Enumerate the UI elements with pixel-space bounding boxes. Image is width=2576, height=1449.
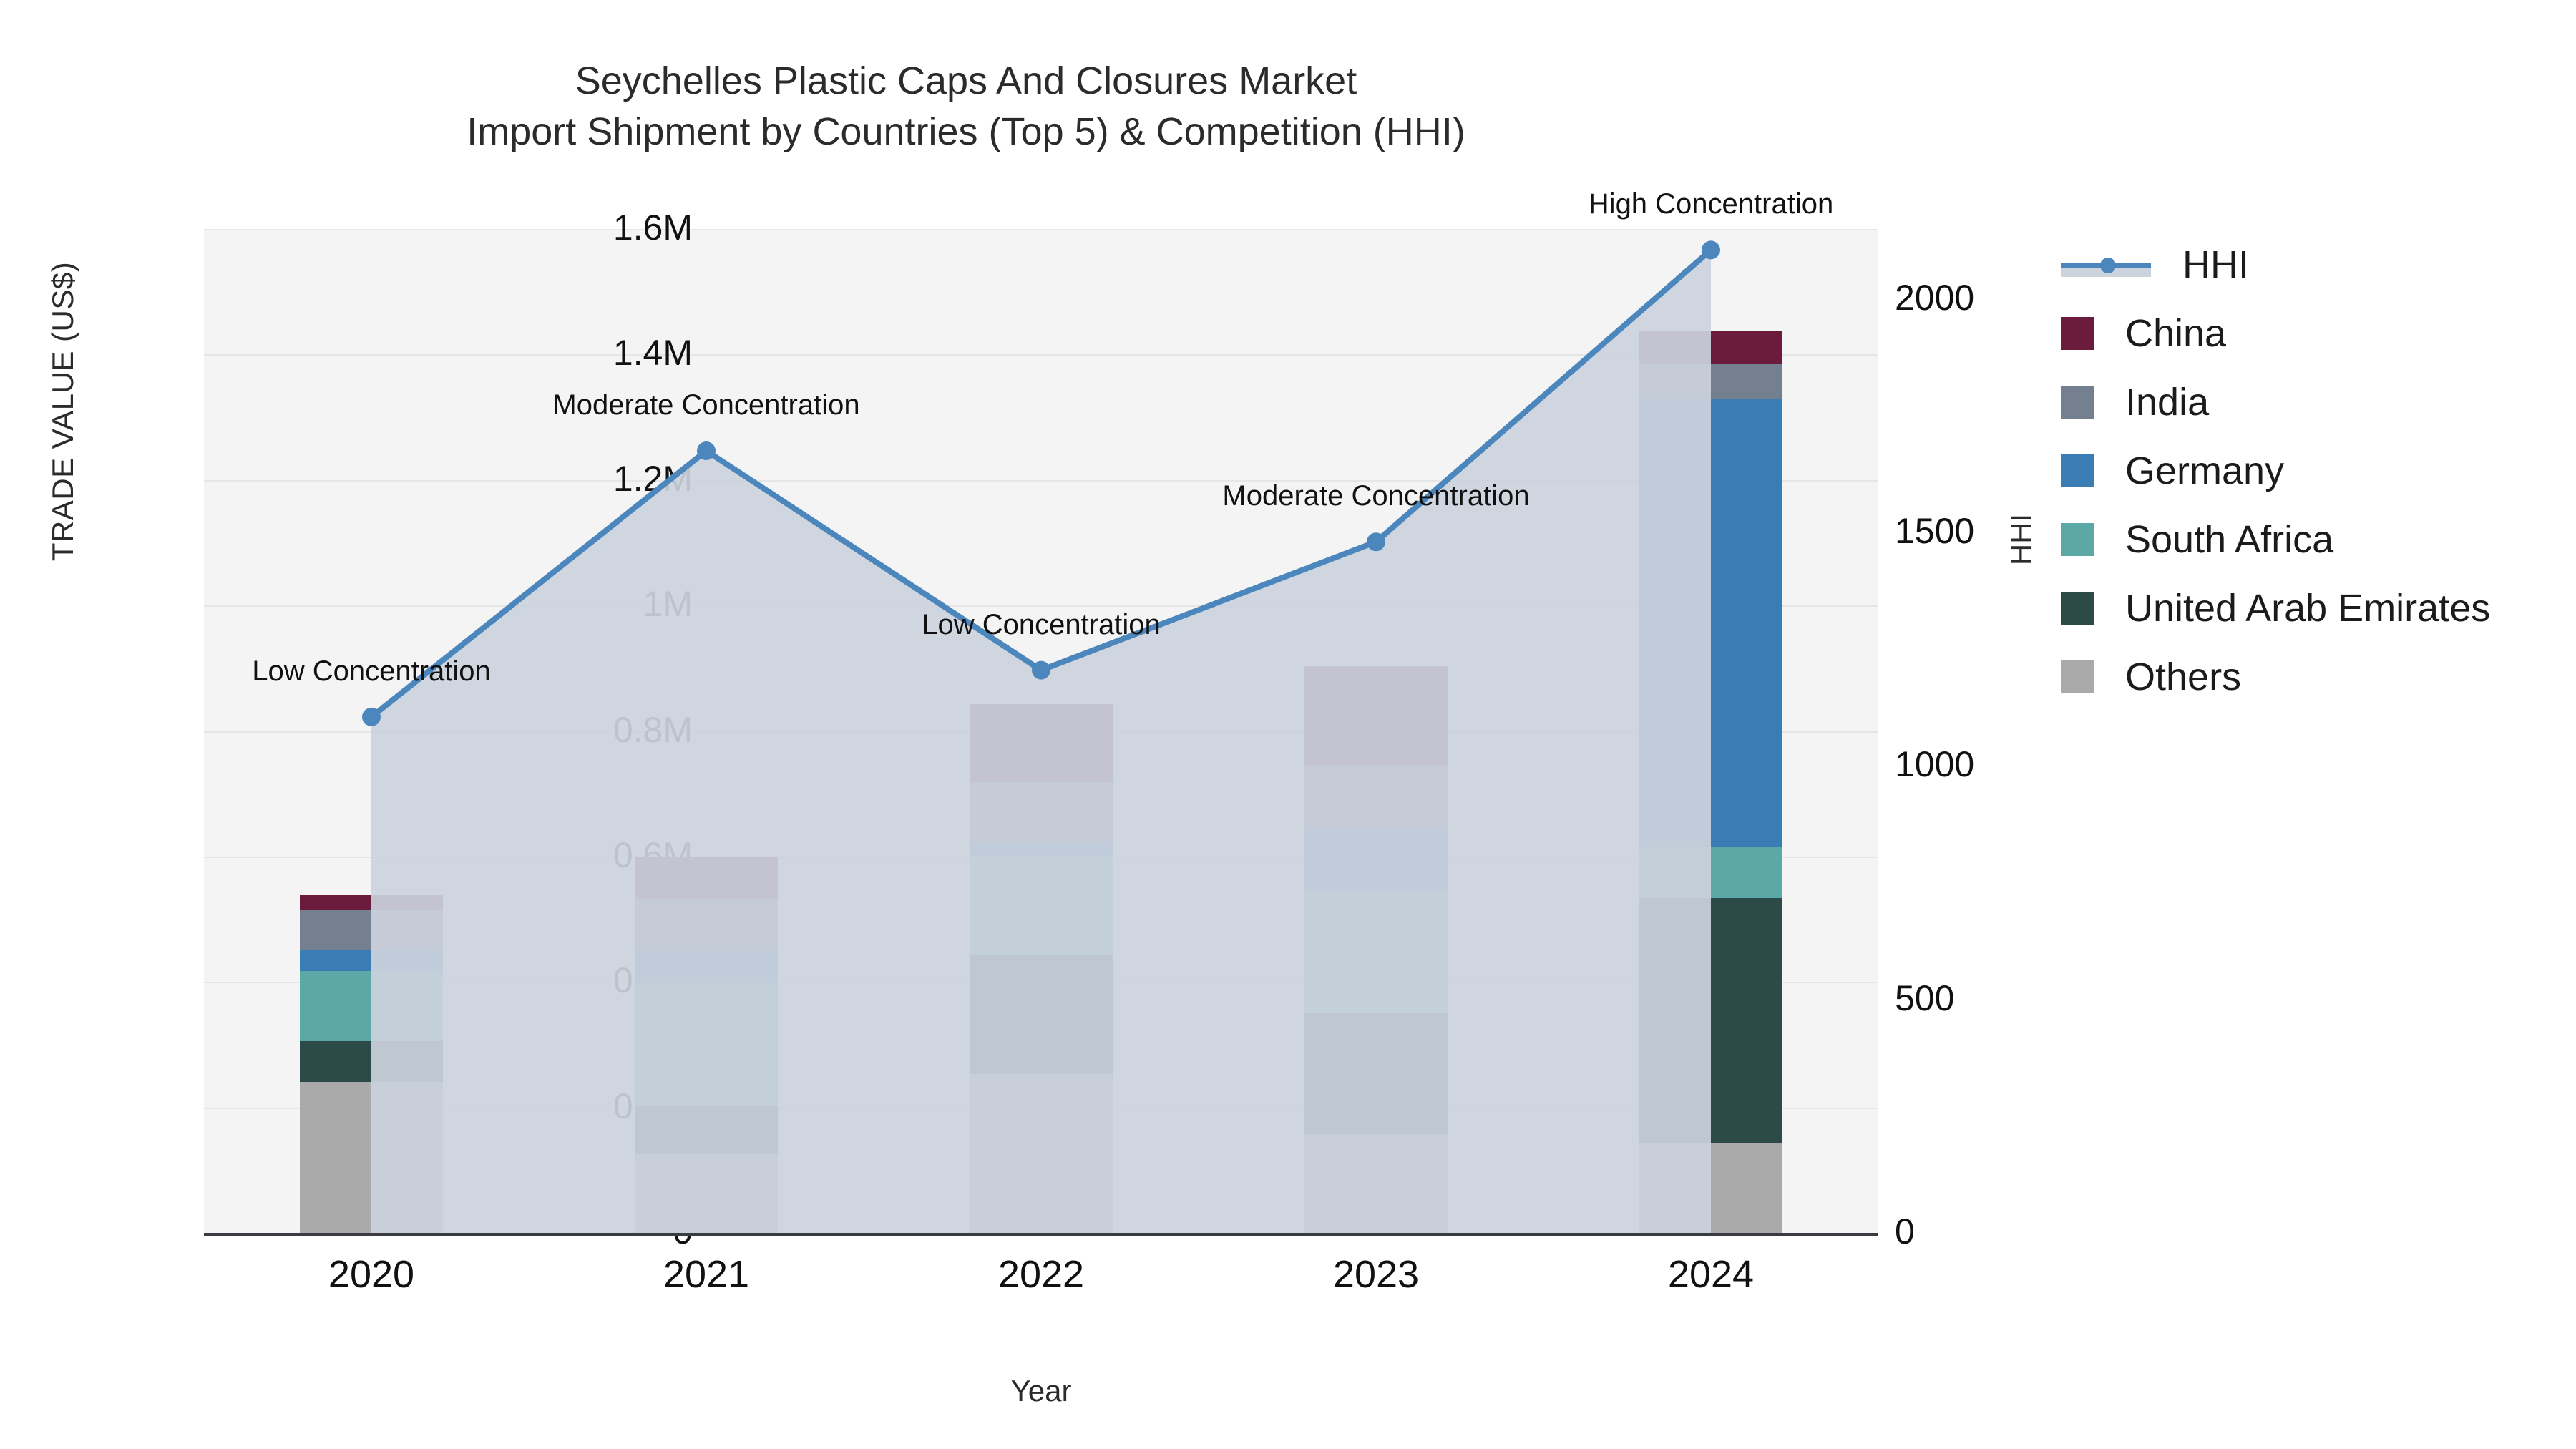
legend-color-swatch (2061, 317, 2094, 350)
bar-segment-south-africa[interactable] (1304, 891, 1448, 1013)
legend-item-germany[interactable]: Germany (2061, 436, 2490, 505)
bar-segment-south-africa[interactable] (970, 856, 1113, 955)
legend-item-label: India (2125, 380, 2209, 424)
legend-item-label: HHI (2182, 243, 2249, 287)
legend-line-dot (2100, 258, 2116, 273)
chart-title-line-2: Import Shipment by Countries (Top 5) & C… (0, 107, 1932, 157)
legend-color-swatch (2061, 454, 2094, 487)
legend-color-swatch (2061, 523, 2094, 556)
x-axis-tick-label: 2024 (1582, 1252, 1840, 1297)
y-axis-left-tick-label: 1M (478, 583, 693, 625)
legend-item-label: Germany (2125, 449, 2284, 493)
y-axis-right-tick-label: 1000 (1895, 743, 2109, 785)
bar-segment-china[interactable] (300, 895, 443, 910)
hhi-annotation-2024: High Concentration (1589, 188, 1833, 220)
chart-title: Seychelles Plastic Caps And Closures Mar… (0, 56, 1932, 158)
chart-root: Seychelles Plastic Caps And Closures Mar… (0, 0, 2576, 1449)
gridline (204, 480, 1878, 482)
bar-segment-germany[interactable] (970, 843, 1113, 856)
bar-segment-india[interactable] (300, 910, 443, 950)
bar-segment-others[interactable] (300, 1082, 443, 1233)
legend-item-hhi[interactable]: HHI (2061, 230, 2490, 299)
legend-item-label: South Africa (2125, 517, 2333, 562)
x-axis-line (204, 1233, 1878, 1236)
bar-segment-others[interactable] (1304, 1134, 1448, 1233)
legend-item-south-africa[interactable]: South Africa (2061, 505, 2490, 574)
bar-segment-india[interactable] (635, 899, 778, 951)
bar-segment-india[interactable] (1639, 364, 1782, 399)
hhi-annotation-2023: Moderate Concentration (1222, 480, 1529, 512)
x-axis-label: Year (0, 1374, 2082, 1408)
gridline (204, 605, 1878, 607)
legend-color-swatch (2061, 592, 2094, 625)
bar-segment-others[interactable] (970, 1074, 1113, 1233)
legend-item-label: China (2125, 311, 2226, 356)
chart-title-line-1: Seychelles Plastic Caps And Closures Mar… (0, 56, 1932, 107)
stacked-bar-2022[interactable] (970, 704, 1113, 1233)
bar-segment-south-africa[interactable] (1639, 847, 1782, 898)
gridline (204, 229, 1878, 230)
bar-segment-united-arab-emirates[interactable] (300, 1041, 443, 1082)
bar-segment-germany[interactable] (1304, 828, 1448, 891)
legend-item-china[interactable]: China (2061, 299, 2490, 368)
x-axis-tick-label: 2023 (1247, 1252, 1505, 1297)
bar-segment-china[interactable] (635, 857, 778, 900)
y-axis-right-tick-label: 0 (1895, 1211, 2109, 1252)
bar-segment-united-arab-emirates[interactable] (1304, 1013, 1448, 1134)
x-axis-tick-label: 2022 (912, 1252, 1170, 1297)
hhi-annotation-2020: Low Concentration (252, 655, 491, 688)
bar-segment-south-africa[interactable] (635, 983, 778, 1106)
hhi-annotation-2021: Moderate Concentration (552, 389, 859, 421)
bar-segment-others[interactable] (635, 1154, 778, 1233)
gridline (204, 354, 1878, 356)
y-axis-left-tick-label: 0.8M (478, 709, 693, 751)
y-axis-left-label: TRADE VALUE (US$) (46, 161, 80, 662)
legend-item-united-arab-emirates[interactable]: United Arab Emirates (2061, 574, 2490, 643)
y-axis-left-tick-label: 1.2M (478, 458, 693, 499)
bar-segment-india[interactable] (1304, 765, 1448, 829)
legend-line-marker-icon (2061, 248, 2151, 281)
bar-segment-united-arab-emirates[interactable] (1639, 898, 1782, 1143)
legend-item-others[interactable]: Others (2061, 643, 2490, 711)
bar-segment-others[interactable] (1639, 1143, 1782, 1233)
legend-color-swatch (2061, 386, 2094, 419)
x-axis-tick-label: 2021 (577, 1252, 835, 1297)
stacked-bar-2021[interactable] (635, 857, 778, 1233)
bar-segment-china[interactable] (1304, 666, 1448, 765)
hhi-annotation-2022: Low Concentration (922, 609, 1161, 641)
legend-item-india[interactable]: India (2061, 368, 2490, 436)
legend-item-label: Others (2125, 655, 2241, 699)
bar-segment-germany[interactable] (1639, 399, 1782, 847)
bar-segment-united-arab-emirates[interactable] (635, 1106, 778, 1154)
bar-segment-germany[interactable] (635, 951, 778, 983)
stacked-bar-2024[interactable] (1639, 331, 1782, 1233)
bar-segment-china[interactable] (1639, 331, 1782, 364)
bar-segment-germany[interactable] (300, 950, 443, 972)
stacked-bar-2020[interactable] (300, 895, 443, 1233)
bar-segment-south-africa[interactable] (300, 971, 443, 1040)
legend-item-label: United Arab Emirates (2125, 586, 2490, 630)
legend-color-swatch (2061, 660, 2094, 693)
legend: HHIChinaIndiaGermanySouth AfricaUnited A… (2061, 230, 2490, 711)
y-axis-left-tick-label: 1.4M (478, 332, 693, 374)
bar-segment-china[interactable] (970, 704, 1113, 783)
bar-segment-india[interactable] (970, 782, 1113, 842)
y-axis-left-tick-label: 1.6M (478, 207, 693, 248)
x-axis-tick-label: 2020 (243, 1252, 500, 1297)
y-axis-right-tick-label: 500 (1895, 977, 2109, 1019)
bar-segment-united-arab-emirates[interactable] (970, 955, 1113, 1075)
stacked-bar-2023[interactable] (1304, 666, 1448, 1233)
